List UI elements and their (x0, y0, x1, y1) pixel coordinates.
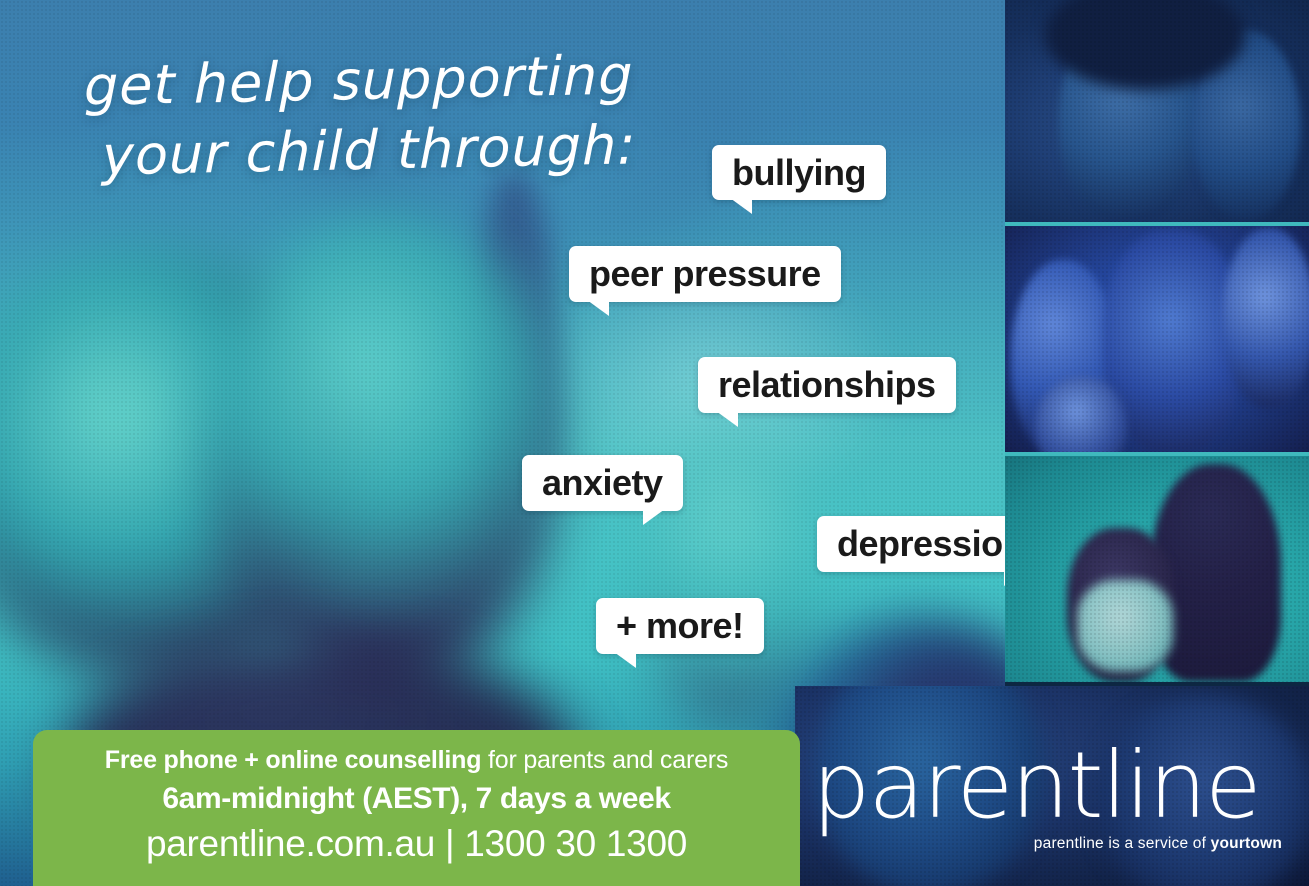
tagline-prefix: parentline is a service of (1034, 835, 1211, 852)
headline-line-1: get help supporting (84, 40, 644, 122)
info-line-contact: parentline.com.au | 1300 30 1300 (33, 820, 800, 868)
info-line-hours: 6am-midnight (AEST), 7 days a week (33, 779, 800, 818)
topic-bubble-relationships: relationships (698, 357, 956, 413)
page-title: get help supporting your child through: (84, 40, 644, 192)
halftone-texture (1005, 0, 1309, 222)
parentline-logo: parentline parentline is a service of yo… (812, 744, 1282, 853)
topic-bubble-bullying: bullying (712, 145, 886, 200)
headline-line-2: your child through: (102, 110, 644, 192)
halftone-texture (1005, 456, 1309, 682)
parent-holding-toddler-photo (1005, 456, 1309, 682)
info-line-services-rest: for parents and carers (481, 746, 728, 774)
halftone-texture (1005, 226, 1309, 452)
contact-info-panel: Free phone + online counselling for pare… (33, 730, 800, 886)
logo-word-line: line (1102, 732, 1260, 839)
mother-and-child-photo (1005, 0, 1309, 222)
family-group-photo (1005, 226, 1309, 452)
logo-wordmark: parentline (812, 744, 1282, 829)
photo-teen-figure (210, 215, 560, 685)
topic-bubble-anxiety: anxiety (522, 455, 683, 511)
info-line-services-bold: Free phone + online counselling (105, 746, 482, 774)
topic-bubble-peer-pressure: peer pressure (569, 246, 841, 302)
logo-word-parent: parent (812, 732, 1102, 839)
parentline-poster: get help supporting your child through: … (0, 0, 1309, 886)
info-line-services: Free phone + online counselling for pare… (33, 744, 800, 777)
topic-bubble-more: + more! (596, 598, 764, 654)
tagline-brand: yourtown (1211, 835, 1282, 852)
